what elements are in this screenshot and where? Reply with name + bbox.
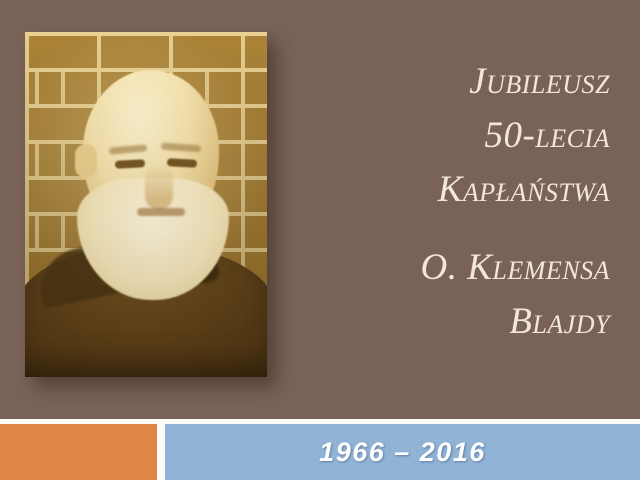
footer-accent-block xyxy=(0,424,157,480)
title-line-2: 50-lecia xyxy=(280,109,610,163)
title-line-3: Kapłaństwa xyxy=(280,163,610,217)
presentation-slide: Jubileusz 50-lecia Kapłaństwa O. Klemens… xyxy=(0,0,640,480)
title-line-5: Blajdy xyxy=(280,295,610,349)
footer-date-bar: 1966 – 2016 xyxy=(165,424,640,480)
date-range-text: 1966 – 2016 xyxy=(319,437,486,468)
friar-ear xyxy=(75,144,97,178)
title-line-4: O. Klemensa xyxy=(280,241,610,295)
title-line-1: Jubileusz xyxy=(280,55,610,109)
friar-mouth xyxy=(137,208,185,216)
slide-title: Jubileusz 50-lecia Kapłaństwa O. Klemens… xyxy=(280,55,610,349)
portrait-photo xyxy=(25,32,267,377)
friar-eye-left xyxy=(115,159,145,169)
title-paragraph-secondary: O. Klemensa Blajdy xyxy=(280,241,610,349)
friar-eye-right xyxy=(167,158,197,168)
title-paragraph-primary: Jubileusz 50-lecia Kapłaństwa xyxy=(280,55,610,217)
friar-nose xyxy=(145,164,173,210)
